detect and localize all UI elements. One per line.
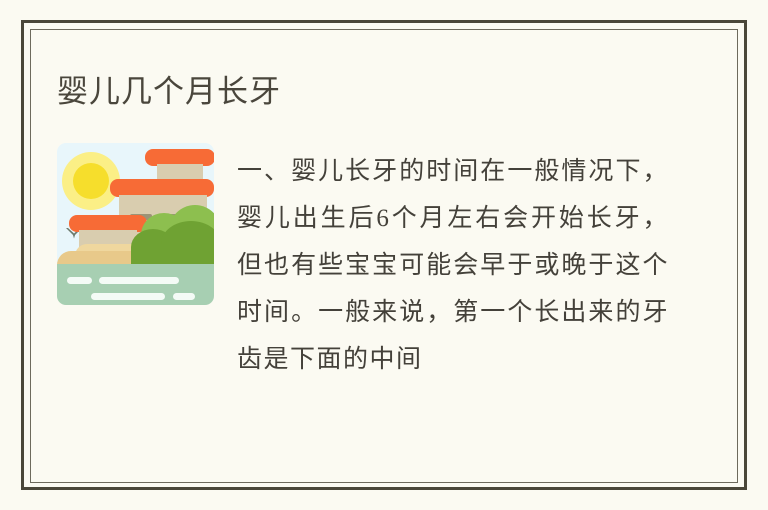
wave-line-2-icon — [99, 277, 179, 284]
wave-line-3-icon — [91, 293, 165, 300]
bush-dark-b-icon — [161, 221, 214, 267]
wave-line-1-icon — [67, 277, 92, 284]
page-title: 婴儿几个月长牙 — [57, 72, 281, 112]
wave-line-4-icon — [173, 293, 195, 300]
article-content: 婴儿几个月长牙 — [31, 30, 737, 482]
article-page: 婴儿几个月长牙 — [0, 0, 768, 510]
article-body-text: 一、婴儿长牙的时间在一般情况下，婴儿出生后6个月左右会开始长牙，但也有些宝宝可能… — [237, 148, 669, 383]
sun-core-icon — [73, 163, 109, 199]
article-thumbnail — [57, 143, 214, 305]
